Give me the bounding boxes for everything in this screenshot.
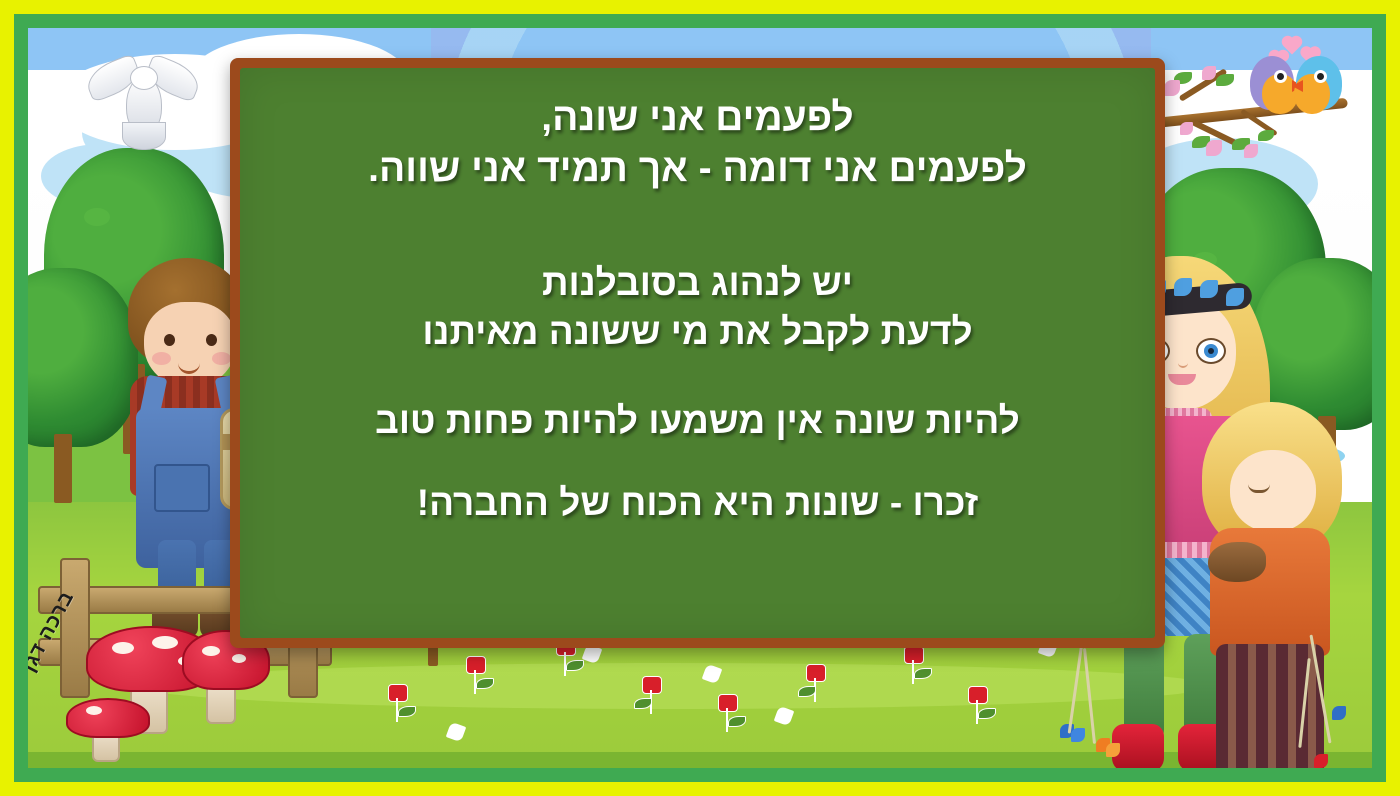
poster-canvas: לפעמים אני שונה, לפעמים אני דומה - אך תמ… bbox=[0, 0, 1400, 796]
board-line-6: זכרו - שונות היא הכוח של החברה! bbox=[286, 479, 1109, 528]
board-line-1: לפעמים אני שונה, bbox=[286, 92, 1109, 143]
board-line-3: יש לנהוג בסובלנות bbox=[286, 259, 1109, 308]
rose-icon bbox=[718, 694, 736, 712]
rose-icon bbox=[466, 656, 484, 674]
chalkboard: לפעמים אני שונה, לפעמים אני דומה - אך תמ… bbox=[230, 58, 1165, 648]
lovebirds-icon bbox=[1146, 34, 1366, 184]
chalkboard-surface: לפעמים אני שונה, לפעמים אני דומה - אך תמ… bbox=[240, 68, 1155, 638]
rose-icon bbox=[904, 646, 922, 664]
spacer bbox=[286, 445, 1109, 479]
mushroom-icon bbox=[64, 696, 150, 758]
dove-icon bbox=[90, 46, 200, 146]
spacer bbox=[286, 195, 1109, 259]
held-bird-icon bbox=[1208, 542, 1266, 582]
bird-blue-icon bbox=[1292, 56, 1350, 118]
board-line-2: לפעמים אני דומה - אך תמיד אני שווה. bbox=[286, 143, 1109, 194]
board-line-4: לדעת לקבל את מי ששונה מאיתנו bbox=[286, 308, 1109, 357]
rose-icon bbox=[388, 684, 406, 702]
illustration-scene: לפעמים אני שונה, לפעמים אני דומה - אך תמ… bbox=[28, 28, 1372, 768]
chalkboard-text-block: לפעמים אני שונה, לפעמים אני דומה - אך תמ… bbox=[286, 92, 1109, 528]
rose-icon bbox=[642, 676, 660, 694]
rose-icon bbox=[968, 686, 986, 704]
board-line-5: להיות שונה אין משמעו להיות פחות טוב bbox=[286, 397, 1109, 446]
rose-icon bbox=[806, 664, 824, 682]
spacer bbox=[286, 357, 1109, 397]
